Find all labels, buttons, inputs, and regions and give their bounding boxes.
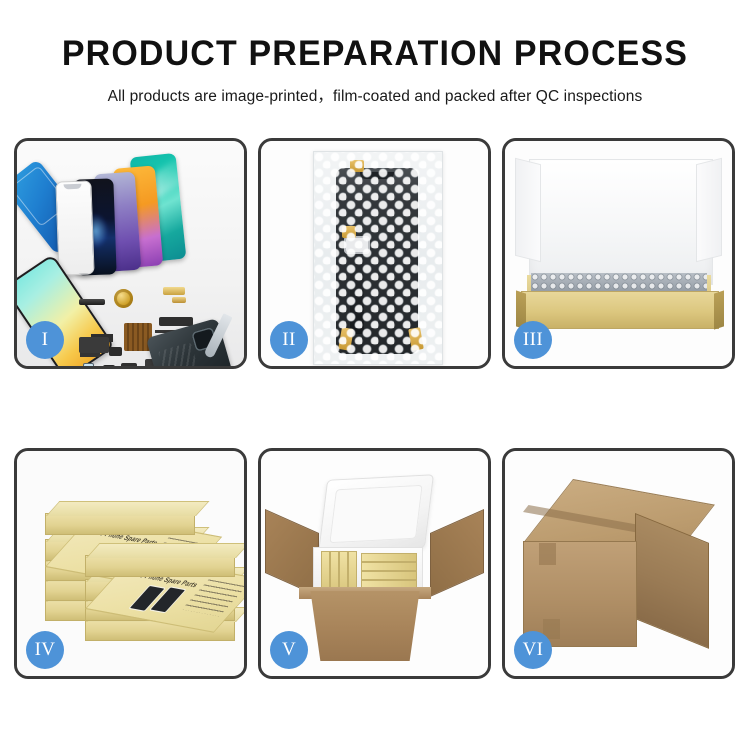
small-part-icon [121,363,137,366]
page-header: PRODUCT PREPARATION PROCESS All products… [0,0,750,106]
small-part-icon [109,347,122,356]
step-badge-5: V [270,631,308,669]
flex-cable-part-icon [159,317,193,326]
carton-body-icon [303,591,427,661]
carton-tape-icon [539,543,556,565]
bubble-texture [314,152,442,364]
process-step-panel-1[interactable]: I [14,138,247,369]
step-badge-6: VI [514,631,552,669]
box-stack: Mobile Phone Spare Parts Mobile Phone Sp… [23,469,239,661]
flex-cable-part-icon [79,337,109,353]
small-part-icon [83,363,94,366]
step-badge-4: IV [26,631,64,669]
process-step-panel-6[interactable]: VI [502,448,735,679]
step-badge-2: II [270,321,308,359]
yellow-box-icon [361,571,417,580]
yellow-box-icon [361,553,417,562]
bar-part-icon [79,299,105,305]
process-step-panel-5[interactable]: V [258,448,491,679]
process-step-panel-4[interactable]: Mobile Phone Spare Parts Mobile Phone Sp… [14,448,247,679]
small-part-icon [103,365,115,366]
retail-box-icon [85,555,235,577]
step-badge-1: I [26,321,64,359]
page-title: PRODUCT PREPARATION PROCESS [11,36,739,73]
coil-part-icon [114,289,133,308]
box-lid-icon [529,159,713,285]
process-step-panel-3[interactable]: III [502,138,735,369]
gold-connector-icon [172,297,186,303]
bubble-wrap-bag [313,151,443,365]
phone-white-front-icon [55,180,94,275]
process-step-panel-2[interactable]: II [258,138,491,369]
process-step-grid: I II [14,138,736,679]
gold-connector-icon [163,287,185,295]
foam-lid-icon [318,474,434,553]
yellow-box-icon [361,562,417,571]
retail-box-icon [45,513,195,535]
box-front-panel [521,291,719,329]
step-badge-3: III [514,321,552,359]
box-flap-right-icon [696,158,722,262]
box-flap-left-icon [515,158,541,262]
page-subtitle: All products are image-printed，film-coat… [0,84,750,106]
